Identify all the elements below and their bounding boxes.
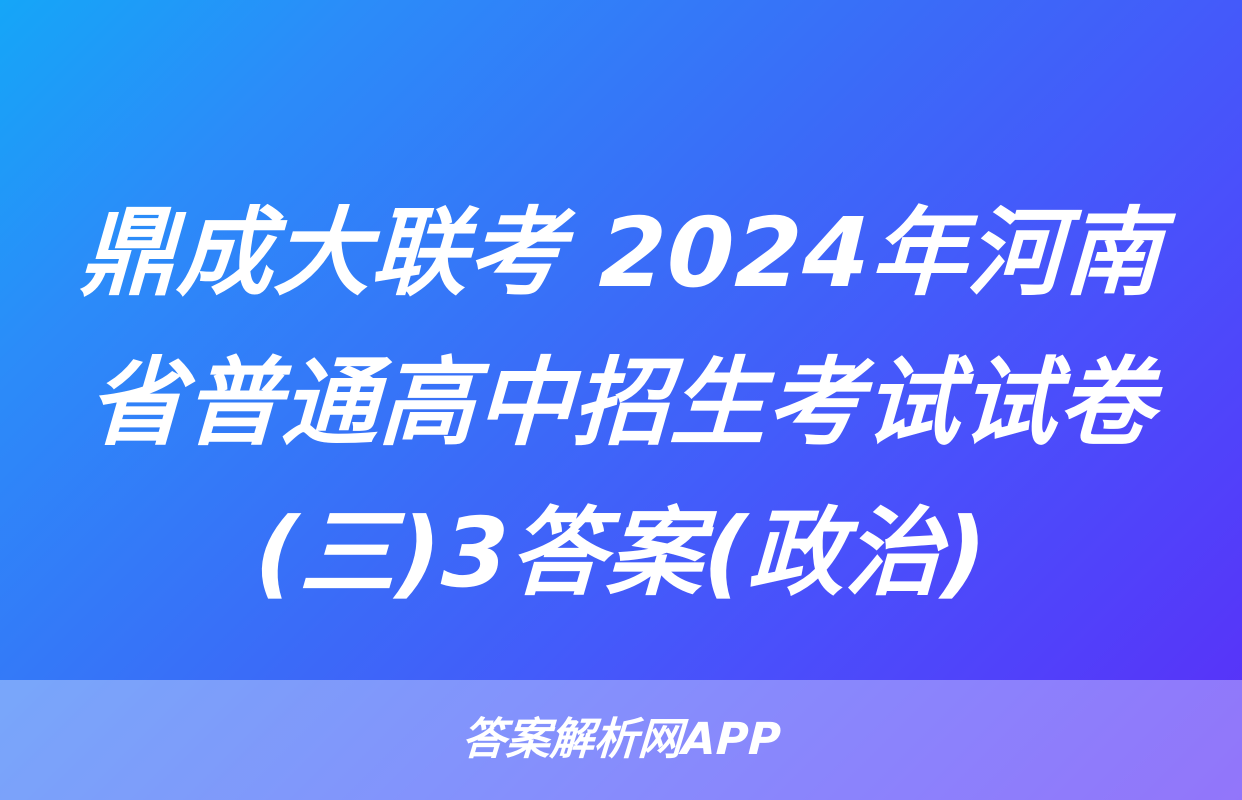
watermark-band: 答案解析网APP <box>0 680 1242 800</box>
cover-title: 鼎成大联考 2024年河南 省普通高中招生考试试卷 (三)3答案(政治) <box>0 178 1242 628</box>
title-line-1: 鼎成大联考 2024年河南 <box>78 178 1165 328</box>
watermark-label: 答案解析网APP <box>461 718 782 762</box>
cover-page: 鼎成大联考 2024年河南 省普通高中招生考试试卷 (三)3答案(政治) 答案解… <box>0 0 1242 800</box>
title-line-3: (三)3答案(政治) <box>252 478 990 628</box>
title-line-2: 省普通高中招生考试试卷 <box>85 328 1157 478</box>
